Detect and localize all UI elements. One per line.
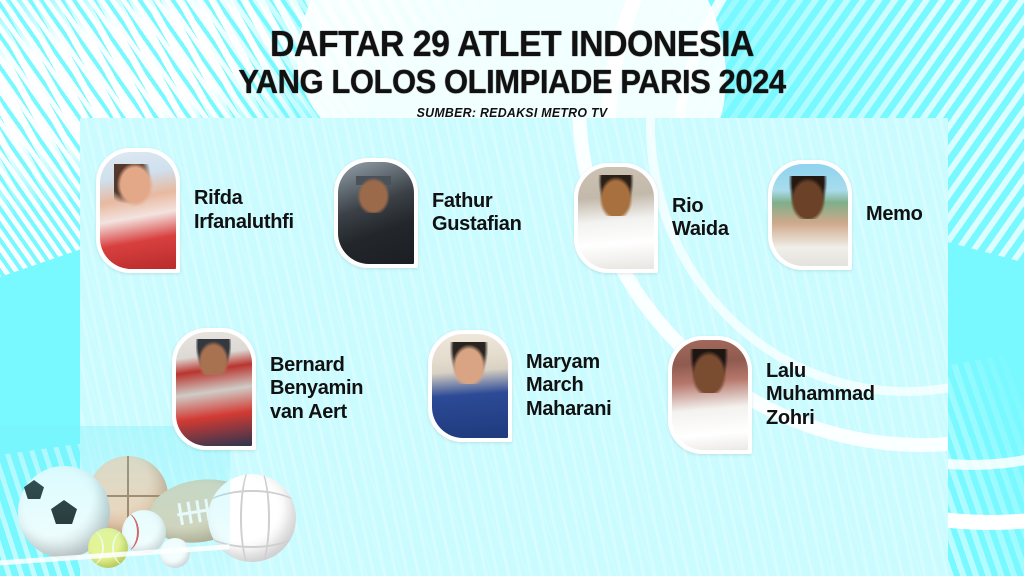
headline-line-1: DAFTAR 29 ATLET INDONESIA (31, 26, 994, 63)
athlete-card-rifda-irfanaluthfi[interactable]: Rifda Irfanaluthfi (96, 148, 294, 273)
athlete-name-maryam-march-maharani: Maryam March Maharani (526, 351, 611, 421)
athlete-name-lalu-muhammad-zohri: Lalu Muhammad Zohri (766, 360, 875, 430)
athlete-photo-rio-waida (574, 163, 658, 273)
athlete-card-bernard-benyamin-van-aert[interactable]: Bernard Benyamin van Aert (172, 328, 363, 450)
athlete-photo-rifda-irfanaluthfi (96, 148, 180, 273)
athlete-name-rio-waida: Rio Waida (672, 195, 729, 242)
athlete-name-fathur-gustafian: Fathur Gustafian (432, 190, 522, 237)
headline-line-2: YANG LOLOS OLIMPIADE PARIS 2024 (31, 65, 994, 99)
athlete-photo-bernard-benyamin-van-aert (172, 328, 256, 450)
athlete-name-rifda-irfanaluthfi: Rifda Irfanaluthfi (194, 187, 294, 234)
athlete-card-memo[interactable]: Memo (768, 160, 923, 270)
athlete-name-bernard-benyamin-van-aert: Bernard Benyamin van Aert (270, 354, 363, 424)
athlete-photo-maryam-march-maharani (428, 330, 512, 442)
title-block: DAFTAR 29 ATLET INDONESIA YANG LOLOS OLI… (0, 26, 1024, 120)
infographic-canvas: DAFTAR 29 ATLET INDONESIA YANG LOLOS OLI… (0, 0, 1024, 576)
athlete-card-fathur-gustafian[interactable]: Fathur Gustafian (334, 158, 522, 268)
athlete-photo-fathur-gustafian (334, 158, 418, 268)
athlete-photo-memo (768, 160, 852, 270)
athlete-card-rio-waida[interactable]: Rio Waida (574, 163, 729, 273)
athlete-photo-lalu-muhammad-zohri (668, 336, 752, 454)
athlete-card-maryam-march-maharani[interactable]: Maryam March Maharani (428, 330, 611, 442)
athlete-card-lalu-muhammad-zohri[interactable]: Lalu Muhammad Zohri (668, 336, 875, 454)
athlete-name-memo: Memo (866, 203, 923, 226)
source-credit: SUMBER: REDAKSI METRO TV (26, 105, 999, 120)
